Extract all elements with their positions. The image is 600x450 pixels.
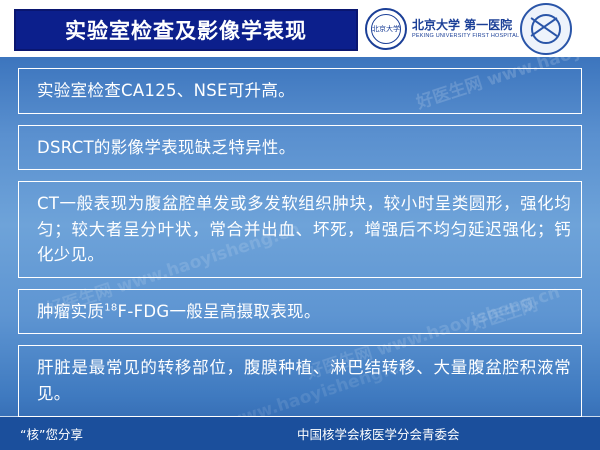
bullet-4-post: F-FDG一般呈高摄取表现。	[118, 302, 321, 321]
bullet-4-superscript: 18	[104, 302, 117, 313]
bullet-text-4: 肿瘤实质18F-FDG一般呈高摄取表现。	[37, 299, 571, 325]
list-item: 肿瘤实质18F-FDG一般呈高摄取表现。	[18, 289, 582, 335]
page-title: 实验室检查及影像学表现	[65, 15, 307, 45]
society-logo-icon	[520, 3, 572, 55]
hospital-name-en: PEKING UNIVERSITY FIRST HOSPITAL	[412, 33, 519, 39]
bullet-text-5: 肝脏是最常见的转移部位，腹膜种植、淋巴结转移、大量腹盆腔积液常见。	[37, 355, 571, 406]
hospital-seal-icon: 北京大学	[365, 8, 407, 50]
list-item: 实验室检查CA125、NSE可升高。	[18, 68, 582, 114]
bullet-text-3: CT一般表现为腹盆腔单发或多发软组织肿块，较小时呈类圆形，强化均匀；较大者呈分叶…	[37, 191, 571, 268]
hospital-logo: 北京大学 北京大学 第一医院 PEKING UNIVERSITY FIRST H…	[365, 5, 510, 53]
bullet-text-2: DSRCT的影像学表现缺乏特异性。	[37, 135, 571, 161]
content-area: 实验室检查CA125、NSE可升高。 DSRCT的影像学表现缺乏特异性。 CT一…	[18, 68, 582, 428]
footer-bar: “核”您分享 中国核学会核医学分会青委会	[0, 417, 600, 450]
bullet-text-1: 实验室检查CA125、NSE可升高。	[37, 78, 571, 104]
title-bar: 实验室检查及影像学表现 北京大学 北京大学 第一医院 PEKING UNIVER…	[0, 0, 600, 57]
slide: 实验室检查及影像学表现 北京大学 北京大学 第一医院 PEKING UNIVER…	[0, 0, 600, 450]
list-item: CT一般表现为腹盆腔单发或多发软组织肿块，较小时呈类圆形，强化均匀；较大者呈分叶…	[18, 181, 582, 278]
hospital-seal-text: 北京大学	[367, 10, 405, 48]
bullet-4-pre: 肿瘤实质	[37, 302, 104, 321]
footer-left-text: “核”您分享	[20, 424, 83, 443]
title-box: 实验室检查及影像学表现	[14, 9, 358, 51]
footer-right-text: 中国核学会核医学分会青委会	[297, 424, 460, 443]
atom-icon	[531, 14, 561, 44]
hospital-logo-text: 北京大学 第一医院 PEKING UNIVERSITY FIRST HOSPIT…	[412, 19, 519, 39]
list-item: 肝脏是最常见的转移部位，腹膜种植、淋巴结转移、大量腹盆腔积液常见。	[18, 345, 582, 416]
list-item: DSRCT的影像学表现缺乏特异性。	[18, 125, 582, 171]
hospital-name-cn: 北京大学 第一医院	[412, 19, 519, 33]
